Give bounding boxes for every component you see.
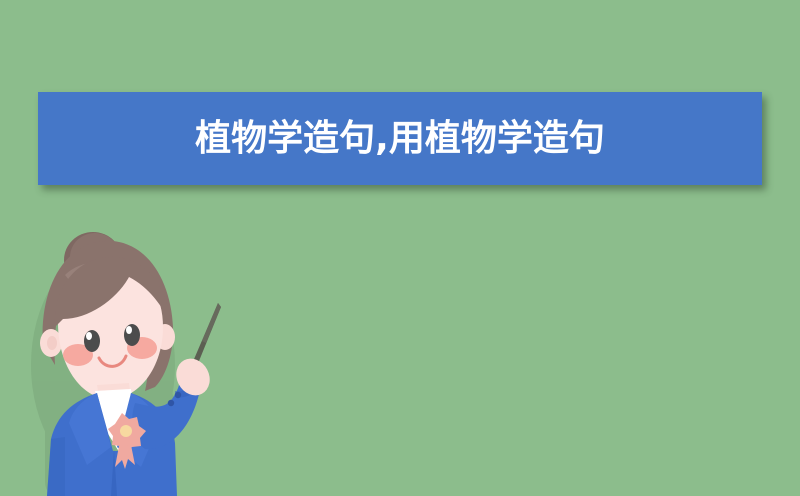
right-eye bbox=[124, 324, 140, 346]
teacher-illustration bbox=[25, 215, 240, 496]
left-eye bbox=[84, 330, 100, 352]
teacher-illustration-svg bbox=[25, 215, 240, 496]
title-banner: 植物学造句,用植物学造句 bbox=[38, 92, 762, 185]
page-title: 植物学造句,用植物学造句 bbox=[195, 121, 605, 157]
page-canvas: 植物学造句,用植物学造句 bbox=[0, 0, 800, 496]
